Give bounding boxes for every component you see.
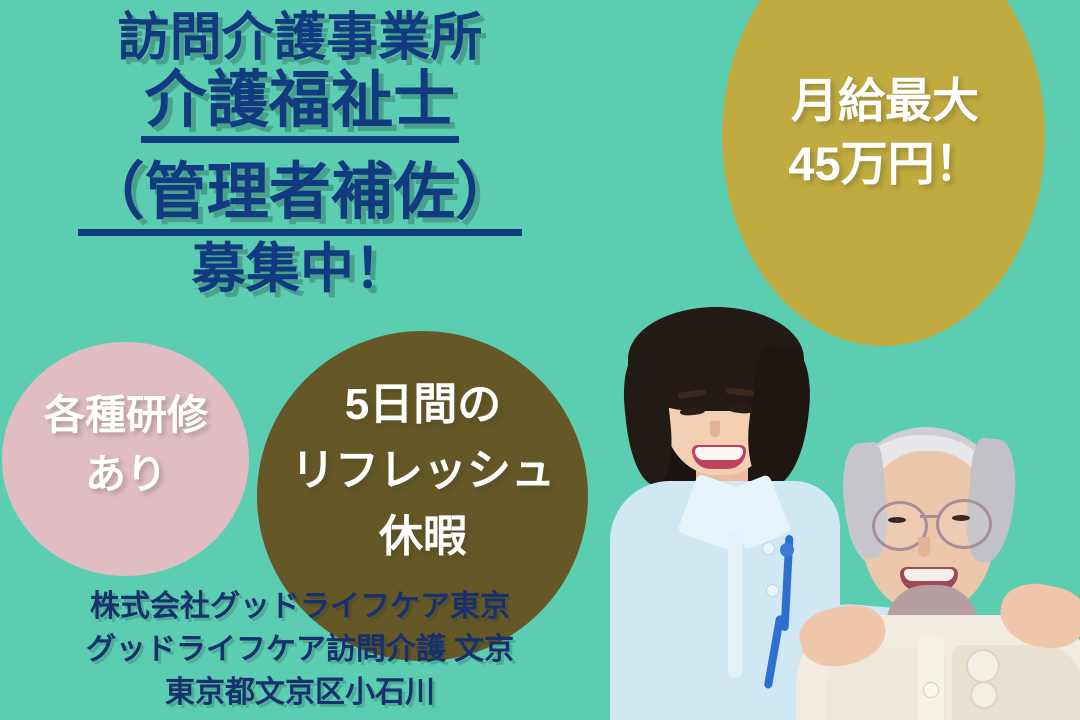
caregiver-placket: [728, 531, 742, 677]
headline-line-role: 介護福祉士: [141, 69, 460, 143]
senior-glasses-bridge: [920, 515, 938, 518]
caregiver-lanyard-ring: [780, 543, 794, 557]
senior-cardigan-placket: [918, 637, 944, 720]
job-recruitment-poster: 訪問介護事業所 介護福祉士 （管理者補佐） 募集中！ 月給最大 45万円！ 各種…: [0, 0, 1080, 720]
senior-cardigan-button-1: [924, 683, 938, 697]
senior-cardigan-flower-2: [972, 683, 996, 707]
caregiver-uniform-button-2: [767, 585, 778, 596]
senior-eye-left: [888, 517, 906, 523]
company-name: 株式会社グッドライフケア東京: [0, 586, 600, 629]
salary-badge-line-2: 45万円！: [740, 133, 1030, 196]
senior-eye-right: [952, 515, 970, 521]
senior-glasses-right-lens: [936, 499, 992, 549]
vacation-badge-line-3: 休暇: [262, 504, 584, 570]
training-badge-text: 各種研修 あり: [6, 386, 246, 505]
training-badge-line-2: あり: [6, 445, 246, 504]
vacation-badge-text: 5日間の リフレッシュ 休暇: [262, 372, 584, 570]
salary-badge-line-1: 月給最大: [740, 70, 1030, 133]
company-info: 株式会社グッドライフケア東京 グッドライフケア訪問介護 文京 東京都文京区小石川: [0, 586, 600, 715]
caregiver-teeth: [695, 447, 743, 460]
caregiver-mouth: [692, 445, 746, 469]
training-badge-line-1: 各種研修: [6, 386, 246, 445]
headline-line-recruiting: 募集中！: [0, 242, 600, 297]
caregiver-and-senior-photo: [600, 285, 1080, 720]
office-address: 東京都文京区小石川: [0, 672, 600, 715]
senior-cardigan-flower-1: [968, 651, 998, 681]
office-name: グッドライフケア訪問介護 文京: [0, 629, 600, 672]
senior-teeth: [904, 569, 954, 581]
page-title: 訪問介護事業所 介護福祉士 （管理者補佐） 募集中！: [0, 10, 600, 297]
vacation-badge-line-2: リフレッシュ: [262, 438, 584, 504]
headline-line-subrole: （管理者補佐）: [78, 161, 521, 235]
vacation-badge-line-1: 5日間の: [262, 372, 584, 438]
senior-nose: [918, 537, 930, 557]
headline-line-facility: 訪問介護事業所: [0, 10, 600, 65]
salary-badge-text: 月給最大 45万円！: [740, 70, 1030, 196]
caregiver-uniform-button-1: [763, 543, 774, 554]
caregiver-nose: [710, 421, 720, 437]
